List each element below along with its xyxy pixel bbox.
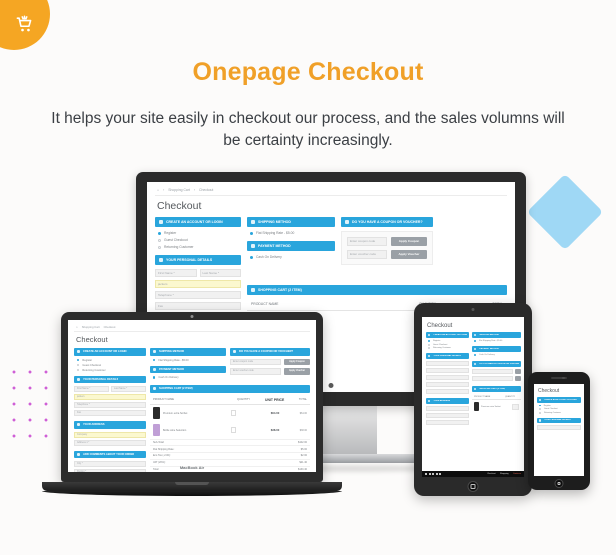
col-product-name: PRODUCT NAME bbox=[474, 396, 505, 398]
panel-coupon-header[interactable]: DO YOU HAVE A COUPON OR VOUCHER? bbox=[341, 217, 433, 227]
line-total: $38.00 bbox=[291, 429, 307, 432]
tag-icon bbox=[233, 350, 236, 353]
blue-diamond-decoration bbox=[527, 174, 603, 250]
phone-body: Checkout CREATE AN ACCOUNT OR LOGIN Regi… bbox=[528, 372, 590, 490]
panel-account-header[interactable]: CREATE AN ACCOUNT OR LOGIN bbox=[74, 348, 146, 356]
tag-icon bbox=[474, 363, 476, 365]
first-name-field[interactable] bbox=[426, 361, 469, 366]
address1-field[interactable] bbox=[426, 413, 469, 418]
tablet-home-button[interactable] bbox=[468, 481, 479, 492]
credit-card-icon bbox=[474, 348, 476, 350]
col-quantity: QUANTITY bbox=[237, 398, 265, 402]
panel-shipping-header[interactable]: SHIPPING METHOD bbox=[150, 348, 226, 356]
radio-icon bbox=[539, 412, 541, 414]
company-field[interactable]: Company bbox=[74, 432, 146, 438]
radio-icon bbox=[153, 359, 155, 361]
truck-icon bbox=[251, 220, 255, 224]
company-field[interactable] bbox=[426, 406, 469, 411]
first-name-field[interactable] bbox=[537, 425, 581, 430]
total-row: Flat Shipping Rate: $5.00 bbox=[150, 445, 310, 452]
total-value: $5.00 bbox=[301, 448, 307, 451]
panel-payment-header[interactable]: PAYMENT METHOD bbox=[472, 346, 521, 352]
table-row: Premium extra Sorbet bbox=[472, 400, 521, 413]
pagination-dot[interactable] bbox=[429, 473, 431, 475]
total-value: $21.40 bbox=[299, 461, 307, 464]
laptop-screen: ⌂ Shopping Cart Checkout Checkout CREATE… bbox=[68, 320, 316, 472]
checkout-column-middle: SHIPPING METHOD Flat Shipping Rate - $5.… bbox=[247, 217, 335, 313]
tablet-body: Checkout CREATE AN ACCOUNT OR LOGIN Regi… bbox=[414, 303, 532, 496]
panel-shipping-header[interactable]: SHIPPING METHOD bbox=[247, 217, 335, 227]
telephone-field[interactable] bbox=[426, 382, 469, 387]
checkout-heading: Checkout bbox=[76, 335, 310, 344]
col-unit-price: UNIT PRICE bbox=[265, 398, 291, 402]
apply-voucher-button[interactable] bbox=[515, 376, 521, 381]
email-field[interactable]: jackers bbox=[74, 394, 146, 400]
checkout-heading: Checkout bbox=[427, 323, 520, 329]
panel-coupon-header[interactable]: DO YOU HAVE A COUPON OR VOUCHER? bbox=[472, 361, 521, 367]
radio-icon bbox=[77, 364, 79, 366]
checkout-heading: Checkout bbox=[157, 200, 507, 212]
truck-icon bbox=[153, 350, 156, 353]
radio-icon bbox=[250, 256, 253, 259]
pagination-dot[interactable] bbox=[436, 473, 438, 475]
unit-price: $64.00 bbox=[262, 411, 288, 415]
laptop-base bbox=[42, 491, 342, 496]
radio-icon bbox=[77, 359, 79, 361]
payment-option[interactable]: Cash On Delivery bbox=[153, 376, 226, 379]
telephone-field[interactable]: Telephone * bbox=[74, 402, 146, 408]
panel-cart-header[interactable]: SHOPPING CART (2 ITEM) bbox=[472, 386, 521, 392]
pagination-dot[interactable] bbox=[425, 473, 427, 475]
user-icon bbox=[428, 334, 430, 336]
col-product-name: PRODUCT NAME bbox=[251, 302, 419, 307]
breadcrumb-home-icon[interactable]: ⌂ bbox=[157, 188, 159, 192]
user-details-icon bbox=[539, 419, 541, 421]
panel-payment-header[interactable]: PAYMENT METHOD bbox=[247, 241, 335, 251]
product-thumbnail bbox=[474, 402, 479, 411]
tablet-footer-bar: Checkout Shopping Continue bbox=[422, 471, 524, 477]
comment-icon bbox=[77, 453, 80, 456]
cart-badge bbox=[0, 0, 50, 50]
shopping-cart-icon bbox=[15, 15, 34, 34]
panel-account-header[interactable]: CREATE AN ACCOUNT OR LOGIN bbox=[426, 332, 469, 338]
email-field[interactable] bbox=[426, 375, 469, 380]
product-name: Bottle wine Selection bbox=[163, 429, 228, 432]
laptop-mockup: ⌂ Shopping Cart Checkout Checkout CREATE… bbox=[42, 312, 342, 496]
panel-payment-header[interactable]: PAYMENT METHOD bbox=[150, 366, 226, 374]
cart-table-header: PRODUCT NAME QUANTITY UNIT PRICE TOTAL bbox=[150, 396, 310, 405]
quantity-stepper[interactable] bbox=[512, 404, 519, 410]
laptop-brand-label: MacBook Air bbox=[68, 465, 316, 470]
user-icon bbox=[77, 350, 80, 353]
checkout-column-right: SHIPPING METHOD Flat Shipping Rate - $5.… bbox=[472, 332, 521, 427]
payment-option[interactable]: Cash On Delivery bbox=[250, 255, 335, 259]
footer-center: Shopping bbox=[500, 473, 508, 475]
webcam-icon bbox=[191, 315, 194, 318]
product-name: Premium extra Sorbet bbox=[163, 412, 228, 415]
telephone-field[interactable]: Telephone * bbox=[155, 291, 241, 299]
home-square-icon bbox=[471, 484, 476, 489]
breadcrumb-item[interactable]: Shopping Cart bbox=[82, 325, 100, 329]
address1-field[interactable]: Address 1 * bbox=[74, 440, 146, 446]
shipping-option[interactable]: Flat Shipping Rate - $5.00 bbox=[250, 231, 335, 235]
pagination-dot[interactable] bbox=[439, 473, 441, 475]
radio-icon bbox=[158, 232, 161, 235]
radio-guest[interactable]: Guest Checkout bbox=[428, 344, 469, 346]
panel-cart-header[interactable]: SHOPPING CART (2 ITEM) bbox=[150, 385, 310, 393]
payment-option[interactable]: Cash On Delivery bbox=[474, 354, 521, 356]
line-total: $64.00 bbox=[291, 412, 307, 415]
home-icon bbox=[77, 423, 80, 426]
home-square-icon bbox=[557, 482, 561, 486]
radio-icon bbox=[539, 408, 541, 410]
radio-returning[interactable]: Returning Customer bbox=[158, 245, 241, 249]
checkout-column-left: CREATE AN ACCOUNT OR LOGIN Register Gues… bbox=[155, 217, 241, 313]
first-name-field[interactable]: First Name * bbox=[155, 269, 197, 277]
voucher-code-input[interactable]: Enter voucher code bbox=[230, 368, 281, 375]
footer-label: Checkout bbox=[487, 473, 495, 475]
col-quantity: QUANTITY bbox=[505, 396, 519, 398]
quantity-stepper[interactable] bbox=[231, 427, 259, 433]
unit-price: $38.00 bbox=[262, 428, 288, 432]
checkout-heading: Checkout bbox=[538, 388, 581, 394]
tablet-checkout-page: Checkout CREATE AN ACCOUNT OR LOGIN Regi… bbox=[422, 317, 524, 477]
user-icon bbox=[159, 220, 163, 224]
product-thumbnail bbox=[153, 424, 160, 436]
breadcrumb[interactable]: ⌂ Shopping Cart Checkout bbox=[74, 325, 310, 332]
cart-icon bbox=[251, 288, 255, 292]
panel-address-header[interactable]: YOUR ADDRESS bbox=[74, 421, 146, 429]
page-title: Onepage Checkout bbox=[0, 58, 616, 87]
col-total: TOTAL bbox=[291, 398, 307, 402]
voucher-code-input[interactable] bbox=[472, 376, 513, 381]
apply-coupon-button[interactable]: Apply Coupon bbox=[391, 237, 427, 246]
breadcrumb[interactable]: ⌂ › Shopping Cart › Checkout bbox=[155, 188, 507, 196]
fax-field[interactable] bbox=[426, 389, 469, 394]
home-icon bbox=[428, 400, 430, 402]
truck-icon bbox=[474, 334, 476, 336]
shipping-option[interactable]: Flat Shipping Rate - $5.00 bbox=[153, 359, 226, 362]
coupon-box: Enter coupon code Apply Coupon Enter vou… bbox=[341, 231, 433, 265]
radio-icon bbox=[539, 405, 541, 407]
table-row: Premium extra Sorbet $64.00 $64.00 bbox=[150, 405, 310, 422]
product-thumbnail bbox=[153, 407, 160, 419]
breadcrumb-item[interactable]: Checkout bbox=[104, 325, 116, 329]
radio-icon bbox=[428, 344, 430, 346]
smartphone-mockup: Checkout CREATE AN ACCOUNT OR LOGIN Regi… bbox=[528, 372, 590, 490]
radio-register[interactable]: Register bbox=[158, 231, 241, 235]
radio-returning[interactable]: Returning Customer bbox=[428, 347, 469, 349]
radio-guest[interactable]: Guest Checkout bbox=[158, 238, 241, 242]
phone-screen: Checkout CREATE AN ACCOUNT OR LOGIN Regi… bbox=[534, 384, 584, 476]
fax-field[interactable]: Fax bbox=[74, 410, 146, 416]
radio-returning[interactable]: Returning Customer bbox=[77, 369, 146, 372]
fax-field[interactable]: Fax bbox=[155, 302, 241, 310]
panel-personal-header[interactable]: YOUR PERSONAL DETAILS bbox=[74, 376, 146, 384]
last-name-field[interactable] bbox=[426, 368, 469, 373]
apply-voucher-button[interactable]: Apply Voucher bbox=[391, 250, 427, 259]
last-name-field[interactable]: Last Name * bbox=[111, 386, 146, 392]
radio-icon bbox=[158, 239, 161, 242]
tablet-mockup: Checkout CREATE AN ACCOUNT OR LOGIN Regi… bbox=[414, 303, 532, 496]
phone-checkout-page: Checkout CREATE AN ACCOUNT OR LOGIN Regi… bbox=[534, 384, 584, 476]
radio-guest[interactable]: Guest Checkout bbox=[539, 408, 581, 410]
laptop-lid: ⌂ Shopping Cart Checkout Checkout CREATE… bbox=[61, 312, 323, 482]
checkout-column-left: CREATE AN ACCOUNT OR LOGIN Register Gues… bbox=[426, 332, 469, 427]
last-name-field[interactable]: Last Name * bbox=[200, 269, 242, 277]
total-label: Sub-Total: bbox=[153, 441, 164, 444]
radio-register[interactable]: Register bbox=[428, 340, 469, 342]
user-details-icon bbox=[159, 258, 163, 262]
radio-icon bbox=[428, 347, 430, 349]
total-label: VAT (20%): bbox=[153, 461, 166, 464]
breadcrumb-item[interactable]: Shopping Cart bbox=[168, 188, 190, 192]
voucher-code-input[interactable]: Enter voucher code bbox=[347, 250, 387, 259]
panel-coupon-header[interactable]: DO YOU HAVE A COUPON OR VOUCHER? bbox=[230, 348, 310, 356]
coupon-code-input[interactable]: Enter coupon code bbox=[230, 359, 281, 366]
radio-icon bbox=[250, 232, 253, 235]
radio-icon bbox=[153, 376, 155, 378]
panel-shipping-header[interactable]: SHIPPING METHOD bbox=[472, 332, 521, 338]
total-value: $102.00 bbox=[298, 441, 307, 444]
total-row: Sub-Total: $102.00 bbox=[150, 439, 310, 446]
front-camera-icon bbox=[472, 308, 475, 311]
panel-account-header[interactable]: CREATE AN ACCOUNT OR LOGIN bbox=[155, 217, 241, 227]
table-row: Bottle wine Selection $38.00 $38.00 bbox=[150, 422, 310, 439]
radio-icon bbox=[158, 246, 161, 249]
panel-comment-header[interactable]: ADD COMMENTS ABOUT YOUR ORDER bbox=[74, 451, 146, 459]
radio-returning[interactable]: Returning Customer bbox=[539, 412, 581, 414]
laptop-deck bbox=[42, 482, 342, 491]
earpiece-speaker-icon bbox=[551, 377, 567, 379]
apply-coupon-button[interactable]: Apply Coupon bbox=[284, 359, 310, 366]
radio-icon bbox=[474, 354, 476, 356]
tablet-screen: Checkout CREATE AN ACCOUNT OR LOGIN Regi… bbox=[422, 317, 524, 477]
user-details-icon bbox=[428, 355, 430, 357]
radio-register[interactable]: Register bbox=[77, 359, 146, 362]
radio-register[interactable]: Register bbox=[539, 405, 581, 407]
city-field[interactable] bbox=[426, 420, 469, 425]
promo-banner: Onepage Checkout It helps your site easi… bbox=[0, 0, 616, 555]
col-product-name: PRODUCT NAME bbox=[153, 398, 237, 402]
laptop-checkout-page: ⌂ Shopping Cart Checkout Checkout CREATE… bbox=[68, 320, 316, 472]
panel-personal-header[interactable]: YOUR PERSONAL DETAILS bbox=[537, 418, 581, 424]
radio-icon bbox=[77, 369, 79, 371]
panel-account-header[interactable]: CREATE AN ACCOUNT OR LOGIN bbox=[537, 397, 581, 403]
page-subtitle: It helps your site easily in checkout ou… bbox=[50, 108, 566, 153]
panel-personal-header[interactable]: YOUR PERSONAL DETAILS bbox=[155, 255, 241, 265]
checkout-column-right: DO YOU HAVE A COUPON OR VOUCHER? Enter c… bbox=[341, 217, 433, 313]
apply-coupon-button[interactable] bbox=[515, 369, 521, 374]
coupon-code-input[interactable]: Enter coupon code bbox=[347, 237, 387, 246]
first-name-field[interactable]: First Name * bbox=[74, 386, 109, 392]
credit-card-icon bbox=[153, 368, 156, 371]
pagination-dot[interactable] bbox=[432, 473, 434, 475]
total-value: $2.00 bbox=[301, 454, 307, 457]
user-icon bbox=[539, 399, 541, 401]
footer-action[interactable]: Continue bbox=[513, 473, 521, 475]
cart-icon bbox=[153, 387, 156, 390]
breadcrumb-item[interactable]: Checkout bbox=[199, 188, 213, 192]
radio-guest[interactable]: Guest Checkout bbox=[77, 364, 146, 367]
email-field[interactable]: jackers bbox=[155, 280, 241, 288]
laptop-notch bbox=[175, 482, 209, 485]
shipping-option[interactable]: Flat Shipping Rate - $5.00 bbox=[474, 340, 521, 342]
checkout-column-left: CREATE AN ACCOUNT OR LOGIN Register Gues… bbox=[74, 348, 146, 472]
panel-personal-header[interactable]: YOUR PERSONAL DETAILS bbox=[426, 353, 469, 359]
checkout-column-right: SHIPPING METHOD Flat Shipping Rate - $5.… bbox=[150, 348, 310, 472]
credit-card-icon bbox=[251, 244, 255, 248]
front-camera-icon bbox=[562, 377, 565, 380]
quantity-stepper[interactable] bbox=[231, 410, 259, 416]
tag-icon bbox=[345, 220, 349, 224]
cart-icon bbox=[474, 388, 476, 390]
total-label: Flat Shipping Rate: bbox=[153, 448, 174, 451]
breadcrumb-home-icon[interactable]: ⌂ bbox=[76, 325, 78, 329]
panel-address-header[interactable]: YOUR ADDRESS bbox=[426, 398, 469, 404]
total-label: Eco Tax (-2.00): bbox=[153, 454, 171, 457]
phone-home-button[interactable] bbox=[555, 479, 564, 488]
user-details-icon bbox=[77, 378, 80, 381]
radio-icon bbox=[474, 340, 476, 342]
radio-icon bbox=[428, 340, 430, 342]
total-row: Eco Tax (-2.00): $2.00 bbox=[150, 452, 310, 459]
product-name: Premium extra Sorbet bbox=[481, 406, 510, 408]
apply-voucher-button[interactable]: Apply Voucher bbox=[284, 368, 310, 375]
coupon-code-input[interactable] bbox=[472, 369, 513, 374]
